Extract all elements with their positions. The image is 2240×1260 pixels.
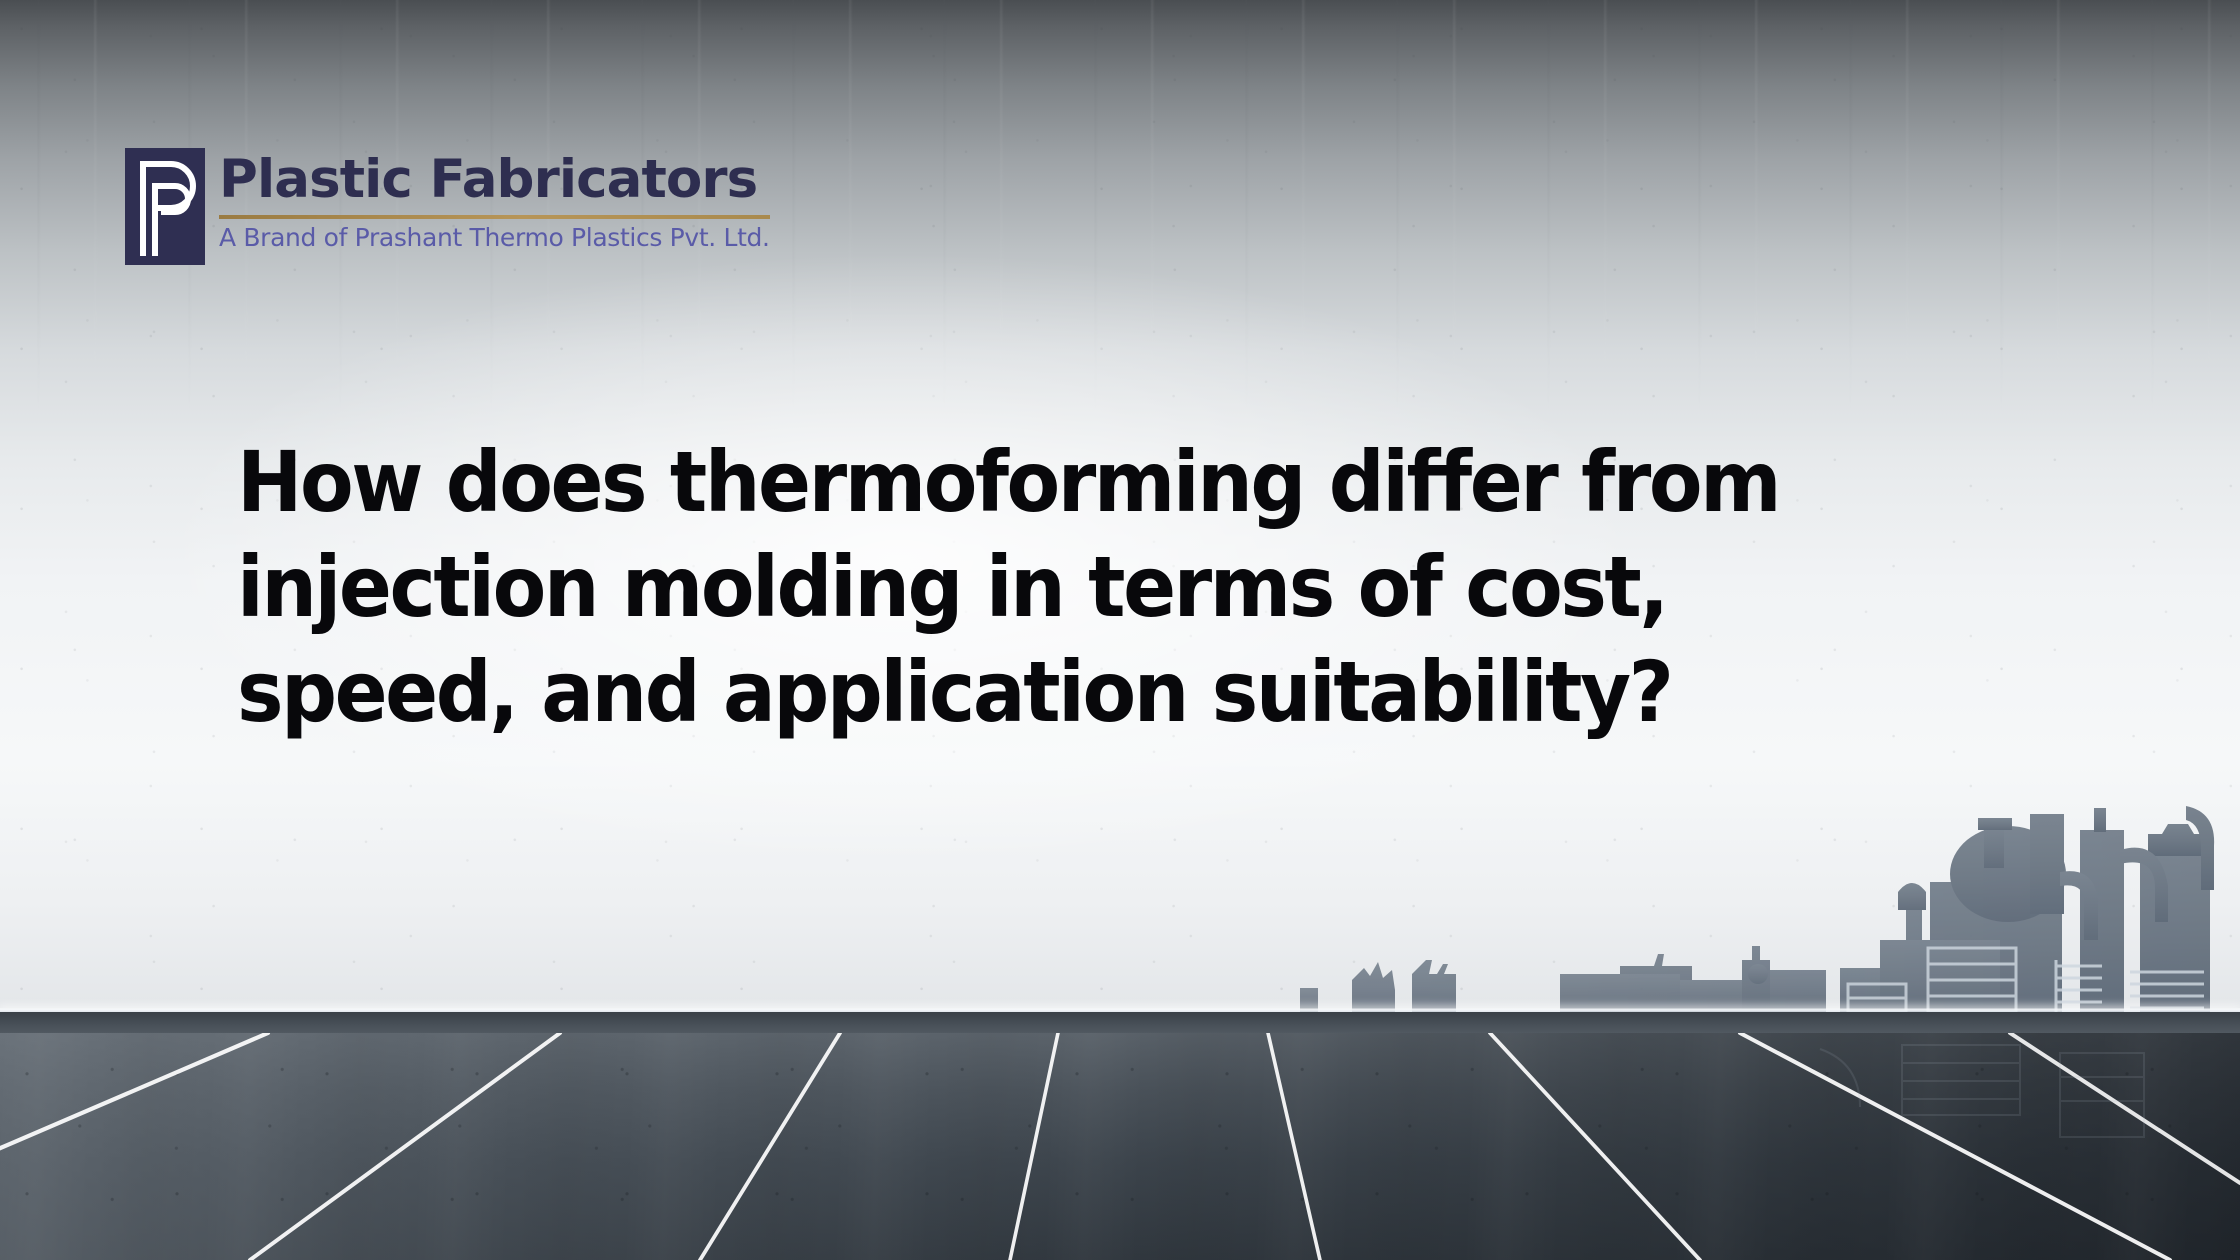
perspective-floor bbox=[0, 1033, 2240, 1260]
headline-line-3: speed, and application suitability? bbox=[237, 640, 1911, 745]
logo-divider bbox=[219, 215, 770, 219]
horizon-dark-band bbox=[0, 1012, 2240, 1034]
logo-title: Plastic Fabricators bbox=[219, 150, 770, 210]
headline-line-2: injection molding in terms of cost, bbox=[237, 535, 1911, 640]
brand-logo[interactable]: Plastic Fabricators A Brand of Prashant … bbox=[125, 148, 770, 265]
headline-line-1: How does thermoforming differ from bbox=[237, 430, 1911, 535]
logo-mark-icon bbox=[125, 148, 205, 265]
slide-canvas: Plastic Fabricators A Brand of Prashant … bbox=[0, 0, 2240, 1260]
logo-subtitle: A Brand of Prashant Thermo Plastics Pvt.… bbox=[219, 223, 770, 253]
logo-text-block: Plastic Fabricators A Brand of Prashant … bbox=[219, 148, 770, 253]
page-title: How does thermoforming differ from injec… bbox=[237, 430, 2037, 745]
